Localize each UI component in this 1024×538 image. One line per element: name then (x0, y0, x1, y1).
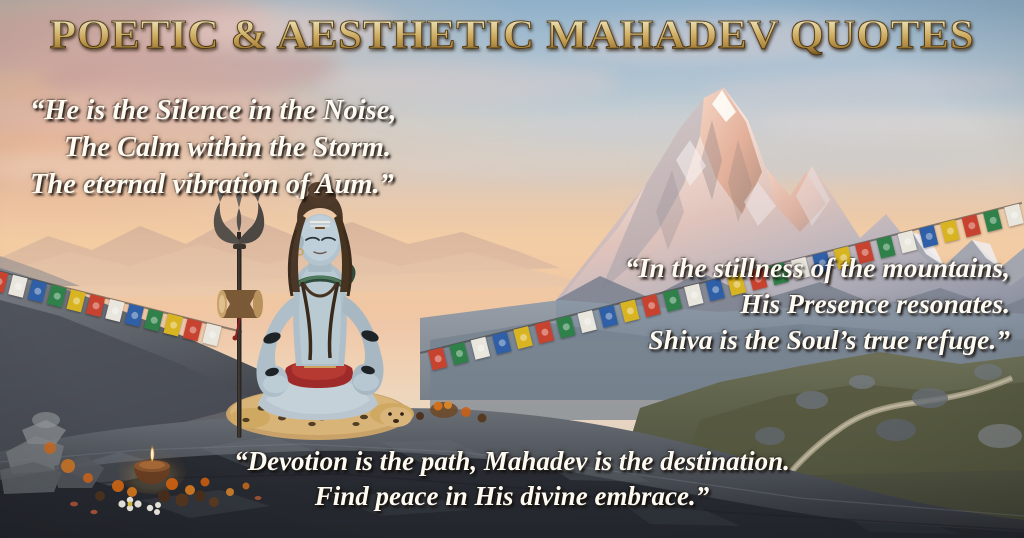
quote-line: His Presence resonates. (625, 286, 1010, 322)
quote-line: Find peace in His divine embrace.” (0, 479, 1024, 514)
quote-line: Shiva is the Soul’s true refuge.” (625, 322, 1010, 358)
quote-line: The Calm within the Storm. (30, 129, 397, 166)
mahadev-quotes-poster: POETIC & AESTHETIC MAHADEV QUOTES “He is… (0, 0, 1024, 538)
quote-line: “Devotion is the path, Mahadev is the de… (0, 444, 1024, 479)
quote-top-left: “He is the Silence in the Noise, The Cal… (30, 92, 397, 203)
quote-line: “In the stillness of the mountains, (625, 250, 1010, 286)
page-title: POETIC & AESTHETIC MAHADEV QUOTES (0, 14, 1024, 55)
quote-line: The eternal vibration of Aum.” (30, 166, 397, 203)
quote-line: “He is the Silence in the Noise, (30, 92, 397, 129)
quote-bottom-center: “Devotion is the path, Mahadev is the de… (0, 444, 1024, 514)
quote-middle-right: “In the stillness of the mountains, His … (625, 250, 1010, 357)
